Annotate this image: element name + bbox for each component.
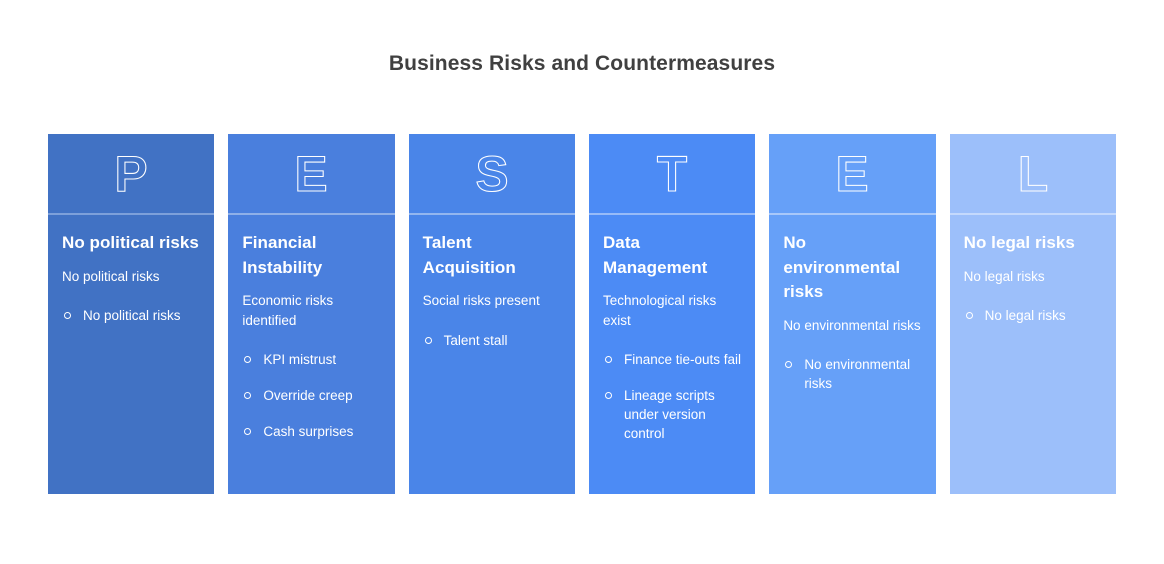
list-item-label: Override creep xyxy=(263,388,352,403)
column-subtitle: No political risks xyxy=(62,267,200,287)
letter-p-icon: P xyxy=(107,147,155,203)
list-item-label: Talent stall xyxy=(444,333,508,348)
pestel-column-5[interactable]: ENo environmental risksNo environmental … xyxy=(769,134,935,494)
list-item: Override creep xyxy=(242,387,380,406)
header-divider xyxy=(409,213,575,215)
column-body-3: Talent AcquisitionSocial risks presentTa… xyxy=(409,215,575,494)
pestel-column-2[interactable]: EFinancial InstabilityEconomic risks ide… xyxy=(228,134,394,494)
hollow-circle-bullet-icon xyxy=(244,392,251,399)
list-item-label: No political risks xyxy=(83,308,181,323)
bullet-list: KPI mistrustOverride creepCash surprises xyxy=(242,351,380,442)
column-letter-glyph: S xyxy=(475,147,508,202)
column-body-1: No political risksNo political risksNo p… xyxy=(48,215,214,494)
list-item: No environmental risks xyxy=(783,356,921,394)
letter-t-icon: T xyxy=(648,147,696,203)
hollow-circle-bullet-icon xyxy=(605,392,612,399)
column-body-2: Financial InstabilityEconomic risks iden… xyxy=(228,215,394,494)
hollow-circle-bullet-icon xyxy=(605,356,612,363)
hollow-circle-bullet-icon xyxy=(785,361,792,368)
pestel-column-3[interactable]: STalent AcquisitionSocial risks presentT… xyxy=(409,134,575,494)
bullet-list: Talent stall xyxy=(423,332,561,351)
list-item-label: Cash surprises xyxy=(263,424,353,439)
list-item: No legal risks xyxy=(964,307,1102,326)
column-header-2: E xyxy=(228,134,394,215)
column-heading: No political risks xyxy=(62,231,200,256)
list-item-label: No environmental risks xyxy=(804,357,910,391)
column-heading: Talent Acquisition xyxy=(423,231,561,280)
letter-s-icon: S xyxy=(468,147,516,203)
pestel-columns: PNo political risksNo political risksNo … xyxy=(48,134,1116,494)
column-heading: Data Management xyxy=(603,231,741,280)
column-letter-glyph: L xyxy=(1018,147,1048,202)
hollow-circle-bullet-icon xyxy=(425,337,432,344)
column-header-3: S xyxy=(409,134,575,215)
header-divider xyxy=(48,213,214,215)
column-body-5: No environmental risksNo environmental r… xyxy=(769,215,935,494)
list-item: Cash surprises xyxy=(242,423,380,442)
hollow-circle-bullet-icon xyxy=(966,312,973,319)
hollow-circle-bullet-icon xyxy=(244,428,251,435)
column-letter-glyph: T xyxy=(657,147,687,202)
column-letter-glyph: P xyxy=(115,147,148,202)
column-header-4: T xyxy=(589,134,755,215)
list-item: No political risks xyxy=(62,307,200,326)
header-divider xyxy=(769,213,935,215)
column-header-6: L xyxy=(950,134,1116,215)
column-body-6: No legal risksNo legal risksNo legal ris… xyxy=(950,215,1116,494)
bullet-list: Finance tie-outs failLineage scripts und… xyxy=(603,351,741,444)
letter-e-icon: E xyxy=(828,147,876,203)
bullet-list: No environmental risks xyxy=(783,356,921,394)
list-item-label: No legal risks xyxy=(985,308,1066,323)
letter-l-icon: L xyxy=(1009,147,1057,203)
column-subtitle: Economic risks identified xyxy=(242,291,380,330)
hollow-circle-bullet-icon xyxy=(64,312,71,319)
pestel-column-1[interactable]: PNo political risksNo political risksNo … xyxy=(48,134,214,494)
list-item-label: Finance tie-outs fail xyxy=(624,352,741,367)
column-heading: No legal risks xyxy=(964,231,1102,256)
bullet-list: No legal risks xyxy=(964,307,1102,326)
column-header-1: P xyxy=(48,134,214,215)
column-heading: Financial Instability xyxy=(242,231,380,280)
column-letter-glyph: E xyxy=(295,147,328,202)
list-item-label: Lineage scripts under version control xyxy=(624,388,715,441)
header-divider xyxy=(589,213,755,215)
page-title: Business Risks and Countermeasures xyxy=(0,52,1164,76)
pestel-column-6[interactable]: LNo legal risksNo legal risksNo legal ri… xyxy=(950,134,1116,494)
list-item: Talent stall xyxy=(423,332,561,351)
bullet-list: No political risks xyxy=(62,307,200,326)
column-heading: No environmental risks xyxy=(783,231,921,305)
list-item-label: KPI mistrust xyxy=(263,352,336,367)
column-subtitle: No legal risks xyxy=(964,267,1102,287)
column-letter-glyph: E xyxy=(836,147,869,202)
column-subtitle: No environmental risks xyxy=(783,316,921,336)
pestel-column-4[interactable]: TData ManagementTechnological risks exis… xyxy=(589,134,755,494)
letter-e-icon: E xyxy=(287,147,335,203)
column-subtitle: Social risks present xyxy=(423,291,561,311)
list-item: Finance tie-outs fail xyxy=(603,351,741,370)
list-item: KPI mistrust xyxy=(242,351,380,370)
hollow-circle-bullet-icon xyxy=(244,356,251,363)
column-subtitle: Technological risks exist xyxy=(603,291,741,330)
column-body-4: Data ManagementTechnological risks exist… xyxy=(589,215,755,494)
list-item: Lineage scripts under version control xyxy=(603,387,741,444)
header-divider xyxy=(228,213,394,215)
header-divider xyxy=(950,213,1116,215)
column-header-5: E xyxy=(769,134,935,215)
